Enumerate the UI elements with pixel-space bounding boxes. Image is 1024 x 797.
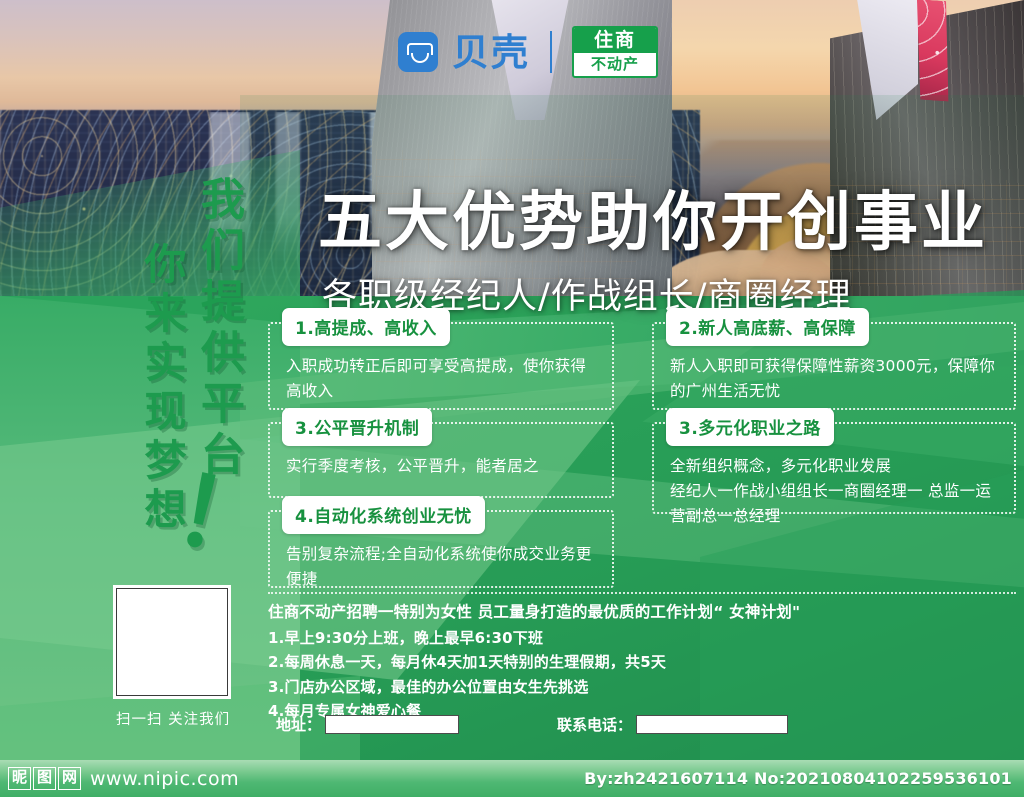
- feature-tag: 1.高提成、高收入: [282, 308, 450, 346]
- zhushang-industry: 不动产: [574, 53, 656, 76]
- phone-input[interactable]: [636, 715, 788, 734]
- zhushang-logo-badge: 住商 不动产: [572, 26, 658, 78]
- qr-caption: 扫一扫 关注我们: [116, 708, 228, 729]
- plan-item: 3.门店办公区域，最佳的办公位置由女生先挑选: [268, 675, 1016, 699]
- nipic-char: 网: [58, 767, 81, 790]
- address-field-group: 地址：: [276, 714, 459, 735]
- feature-box-2: 2.新人高底薪、高保障 新人入职即可获得保障性薪资3000元，保障你的广州生活无…: [652, 322, 1016, 410]
- feature-tag: 3.公平晋升机制: [282, 408, 432, 446]
- logo-row: 贝壳 住商 不动产: [398, 26, 658, 78]
- logo-divider: [550, 31, 552, 73]
- beike-brand-name: 贝壳: [452, 34, 530, 71]
- feature-box-5: 4.自动化系统创业无忧 告别复杂流程;全自动化系统使你成交业务更便捷: [268, 510, 614, 588]
- feature-tag: 3.多元化职业之路: [666, 408, 834, 446]
- feature-box-3: 3.公平晋升机制 实行季度考核，公平晋升，能者居之: [268, 422, 614, 498]
- phone-field-group: 联系电话：: [557, 714, 788, 735]
- author-credit: By:zh2421607114 No:20210804102259536101: [584, 769, 1014, 788]
- feature-box-1: 1.高提成、高收入 入职成功转正后即可享受高提成，使你获得高收入: [268, 322, 614, 410]
- feature-box-4: 3.多元化职业之路 全新组织概念，多元化职业发展 经纪人一作战小组组长一商圈经理…: [652, 422, 1016, 514]
- vertical-slogan-primary: 我们提供平台: [186, 176, 250, 482]
- watermark-footer: 昵 图 网 www.nipic.com By:zh2421607114 No:2…: [0, 760, 1024, 797]
- feature-tag: 2.新人高底薪、高保障: [666, 308, 869, 346]
- zhushang-name: 住商: [574, 28, 656, 53]
- exclamation-mark: ！: [167, 461, 281, 575]
- contact-row: 地址： 联系电话：: [276, 714, 788, 735]
- address-input[interactable]: [325, 715, 459, 734]
- house-shell-logo-icon: [398, 32, 438, 72]
- plan-item: 1.早上9:30分上班，晚上最早6:30下班: [268, 626, 1016, 650]
- goddess-plan-block: 住商不动产招聘一特别为女性 员工量身打造的最优质的工作计划“ 女神计划" 1.早…: [268, 592, 1016, 723]
- page-title: 五大优势助你开创事业: [318, 190, 988, 258]
- feature-tag: 4.自动化系统创业无忧: [282, 496, 485, 534]
- plan-heading: 住商不动产招聘一特别为女性 员工量身打造的最优质的工作计划“ 女神计划": [268, 600, 1016, 622]
- plan-item: 2.每周休息一天，每月休4天加1天特别的生理假期，共5天: [268, 650, 1016, 674]
- nipic-char: 昵: [8, 767, 31, 790]
- nipic-char: 图: [33, 767, 56, 790]
- address-label: 地址：: [276, 714, 321, 735]
- nipic-branding: 昵 图 网 www.nipic.com: [8, 767, 239, 790]
- qr-code-placeholder-icon[interactable]: [116, 588, 228, 696]
- nipic-url: www.nipic.com: [90, 768, 239, 790]
- qr-block: 扫一扫 关注我们: [116, 588, 228, 729]
- phone-label: 联系电话：: [557, 714, 632, 735]
- recruitment-poster: 贝壳 住商 不动产 五大优势助你开创事业 各职级经纪人/作战组长/商圈经理 我们…: [0, 0, 1024, 797]
- nipic-name-cn: 昵 图 网: [8, 767, 81, 790]
